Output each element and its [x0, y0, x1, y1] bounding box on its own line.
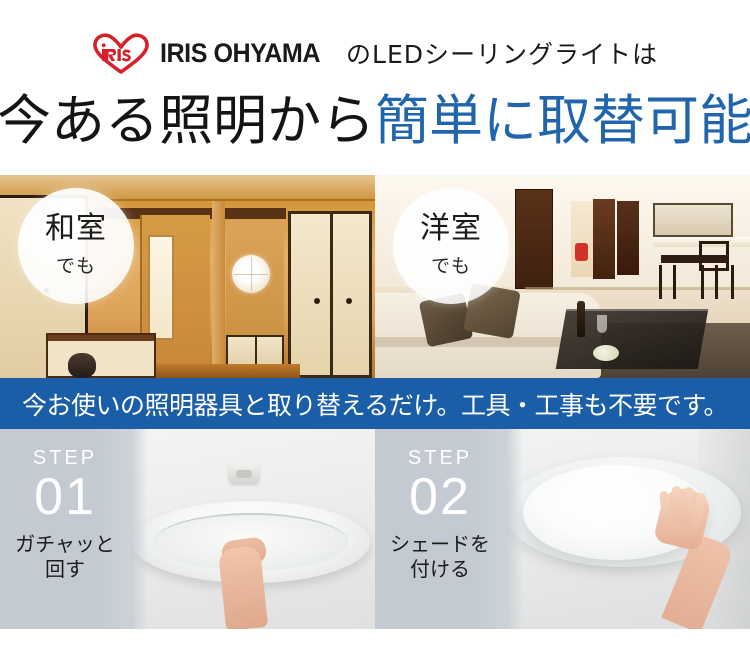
room-photos-section: 和室 でも	[0, 175, 750, 378]
dark-door-decor	[593, 199, 615, 279]
step-description: シェードを 付ける	[390, 532, 490, 582]
step-01-label: STEP 01 ガチャッと 回す	[0, 429, 130, 629]
headline-blue-part: 簡単に取替可能	[375, 94, 750, 148]
ceiling-socket-icon	[229, 462, 259, 483]
japanese-room-photo: 和室 でも	[0, 175, 375, 378]
badge-subtitle: でも	[56, 251, 96, 278]
step-word: STEP	[33, 447, 97, 470]
hand-fingers	[661, 485, 707, 525]
brand-tagline: のLEDシーリングライトは	[346, 35, 658, 71]
step-description: ガチャッと 回す	[15, 532, 115, 582]
round-window-decor	[232, 255, 270, 293]
dark-door-decor	[617, 201, 639, 275]
wine-bottle-decor	[577, 301, 585, 337]
dining-chairs-decor	[655, 253, 747, 299]
advertisement-page: IRIS OHYAMA のLEDシーリングライトは 今ある照明から簡単に取替可能	[0, 0, 750, 658]
info-banner: 今お使いの照明器具と取り替えるだけ。工具・工事も不要です。	[0, 378, 750, 429]
step-number: 01	[34, 471, 96, 523]
step-description-line1: シェードを	[390, 532, 490, 556]
badge-title: 和室	[45, 214, 107, 244]
flower-decor	[593, 345, 619, 361]
low-table-decor	[46, 333, 156, 378]
western-room-badge: 洋室 でも	[393, 188, 509, 304]
step-02-label: STEP 02 シェードを 付ける	[375, 429, 505, 629]
closet-doors-decor	[288, 211, 372, 378]
wine-glass-decor	[597, 315, 607, 333]
hand-twisting	[218, 545, 268, 629]
brand-name: IRIS OHYAMA	[160, 38, 320, 69]
mirror-decor	[653, 203, 733, 237]
step-02: STEP 02 シェードを 付ける	[375, 429, 750, 629]
page-title: 今ある照明から簡単に取替可能	[0, 85, 750, 157]
step-description-line2: 付ける	[410, 557, 470, 581]
dark-door-decor	[515, 189, 553, 289]
badge-title: 洋室	[420, 214, 482, 244]
hallway-decor	[571, 201, 593, 277]
brand-row: IRIS OHYAMA のLEDシーリングライトは	[0, 32, 750, 74]
iris-heart-logo-icon	[92, 32, 150, 74]
headline-black-part: 今ある照明から	[0, 94, 375, 148]
badge-subtitle: でも	[431, 251, 471, 278]
twist-off-old-fixture-photo	[126, 429, 375, 629]
chair-back-decor	[699, 241, 729, 271]
step-01: STEP 01 ガチャッと 回す	[0, 429, 375, 629]
japanese-room-badge: 和室 でも	[18, 188, 134, 304]
info-banner-text: 今お使いの照明器具と取り替えるだけ。工具・工事も不要です。	[22, 386, 728, 422]
attach-shade-photo	[501, 429, 750, 629]
step-description-line1: ガチャッと	[15, 532, 115, 556]
red-chair-decor	[575, 243, 588, 261]
step-word: STEP	[408, 447, 472, 470]
western-room-photo: 洋室 でも	[375, 175, 750, 378]
footer-whitespace	[0, 629, 750, 658]
step-description-line2: 回す	[45, 557, 85, 581]
hanging-scroll-decor	[148, 235, 174, 340]
ceramic-pot-decor	[68, 353, 96, 378]
header-section: IRIS OHYAMA のLEDシーリングライトは 今ある照明から簡単に取替可能	[0, 0, 750, 175]
step-number: 02	[409, 471, 471, 523]
steps-section: STEP 01 ガチャッと 回す STEP	[0, 429, 750, 629]
wood-floor-decor	[140, 364, 300, 378]
pillar-decor	[212, 201, 225, 378]
